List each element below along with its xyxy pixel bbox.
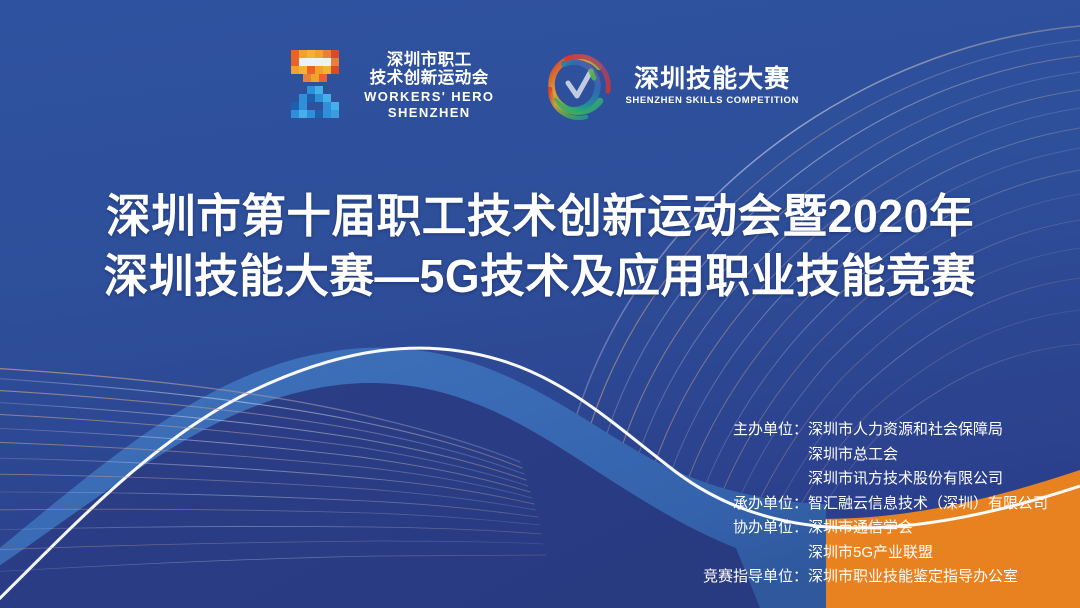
organizer-label: 协办单位：: [718, 516, 808, 541]
organizer-value: 深圳市职业技能鉴定指导办公室: [808, 565, 1018, 590]
organizer-row: 深圳市5G产业联盟: [718, 541, 1048, 566]
shenzhen-skills-swirl-icon: [538, 47, 616, 125]
workers-hero-wordmark: 深圳市职工 技术创新运动会 WORKERS' HERO SHENZHEN: [364, 51, 494, 121]
title-line-2: 深圳技能大赛—5G技术及应用职业技能竞赛: [16, 246, 1064, 306]
title-line-1: 深圳市第十届职工技术创新运动会暨2020年: [16, 186, 1064, 246]
organizer-row: 竞赛指导单位： 深圳市职业技能鉴定指导办公室: [694, 565, 1048, 590]
logo-workers-hero-shenzhen: 深圳市职工 技术创新运动会 WORKERS' HERO SHENZHEN: [281, 44, 494, 128]
organizer-row: 协办单位： 深圳市通信学会: [718, 516, 1048, 541]
organizer-label: 竞赛指导单位：: [694, 565, 808, 590]
organizer-value: 深圳市讯方技术股份有限公司: [808, 467, 1003, 492]
organizer-row: 深圳市总工会: [718, 443, 1048, 468]
organizer-row: 深圳市讯方技术股份有限公司: [718, 467, 1048, 492]
workers-hero-en-line2: SHENZHEN: [388, 106, 471, 121]
organizer-value: 深圳市人力资源和社会保障局: [808, 418, 1003, 443]
shenzhen-skills-cn: 深圳技能大赛: [634, 66, 790, 92]
organizer-value: 深圳市总工会: [808, 443, 898, 468]
organizer-value: 智汇融云信息技术（深圳）有限公司: [808, 492, 1048, 517]
poster-root: 深圳市职工 技术创新运动会 WORKERS' HERO SHENZHEN: [0, 0, 1080, 608]
workers-hero-mosaic-icon: [281, 44, 355, 128]
organizer-row: 承办单位： 智汇融云信息技术（深圳）有限公司: [718, 492, 1048, 517]
organizer-row: 主办单位： 深圳市人力资源和社会保障局: [718, 418, 1048, 443]
organizer-list: 主办单位： 深圳市人力资源和社会保障局 深圳市总工会 深圳市讯方技术股份有限公司…: [718, 418, 1048, 590]
shenzhen-skills-wordmark: 深圳技能大赛 SHENZHEN SKILLS COMPETITION: [625, 66, 798, 105]
workers-hero-cn-line1: 深圳市职工: [387, 51, 472, 69]
logo-bar: 深圳市职工 技术创新运动会 WORKERS' HERO SHENZHEN: [0, 44, 1080, 128]
shenzhen-skills-en: SHENZHEN SKILLS COMPETITION: [625, 96, 798, 106]
organizer-value: 深圳市5G产业联盟: [808, 541, 933, 566]
organizer-label: 承办单位：: [718, 492, 808, 517]
workers-hero-cn-line2: 技术创新运动会: [370, 69, 489, 87]
poster-title: 深圳市第十届职工技术创新运动会暨2020年 深圳技能大赛—5G技术及应用职业技能…: [0, 186, 1080, 306]
organizer-label: 主办单位：: [718, 418, 808, 443]
organizer-value: 深圳市通信学会: [808, 516, 913, 541]
workers-hero-en-line1: WORKERS' HERO: [364, 90, 494, 105]
logo-shenzhen-skills-competition: 深圳技能大赛 SHENZHEN SKILLS COMPETITION: [538, 47, 798, 125]
